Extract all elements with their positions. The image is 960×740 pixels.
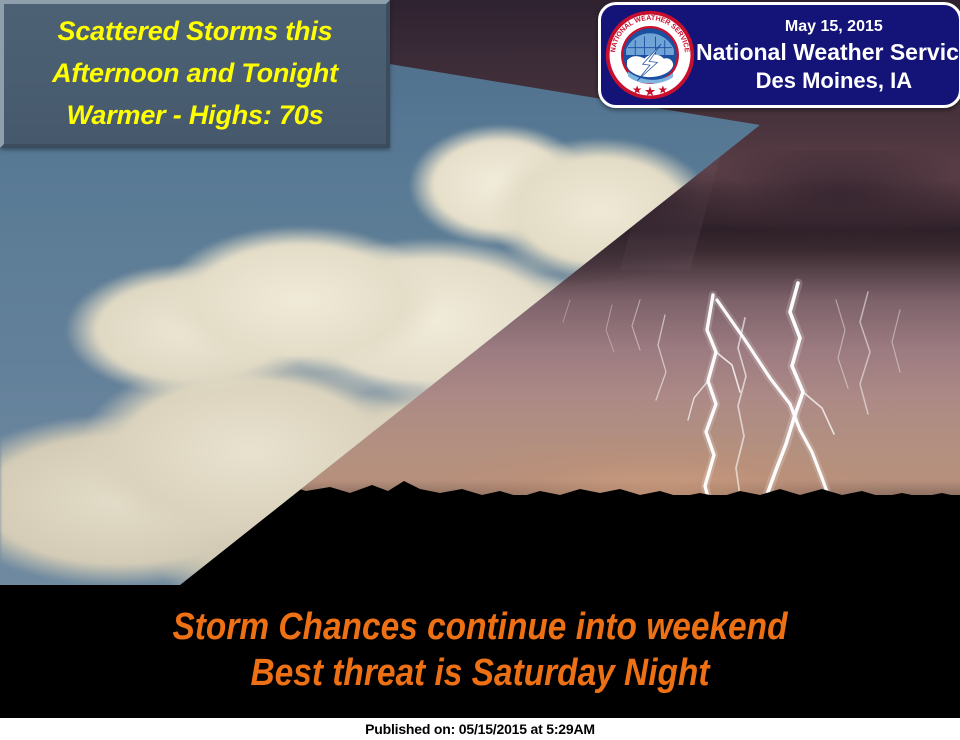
nws-office-banner: NATIONAL WEATHER SERVICE May 15, 2015 Na… xyxy=(598,2,960,108)
agency-name: National Weather Service xyxy=(696,38,960,67)
weather-graphic-stage: Scattered Storms this Afternoon and Toni… xyxy=(0,0,960,718)
national-weather-service-seal-icon: NATIONAL WEATHER SERVICE xyxy=(604,9,696,101)
outlook-message: Storm Chances continue into weekend Best… xyxy=(0,604,960,696)
headline-line-1: Scattered Storms this xyxy=(58,10,333,52)
nws-banner-text: May 15, 2015 National Weather Service De… xyxy=(696,16,960,95)
published-footer: Published on: 05/15/2015 at 5:29AM xyxy=(0,718,960,740)
outlook-line-1: Storm Chances continue into weekend xyxy=(58,604,903,650)
forecast-headline-box: Scattered Storms this Afternoon and Toni… xyxy=(0,0,390,148)
issuance-date: May 15, 2015 xyxy=(785,16,883,38)
outlook-line-2: Best threat is Saturday Night xyxy=(58,650,903,696)
headline-line-2: Afternoon and Tonight xyxy=(52,52,338,94)
headline-line-3: Warmer - Highs: 70s xyxy=(67,94,324,136)
published-timestamp: Published on: 05/15/2015 at 5:29AM xyxy=(365,720,595,738)
office-location: Des Moines, IA xyxy=(756,67,912,95)
